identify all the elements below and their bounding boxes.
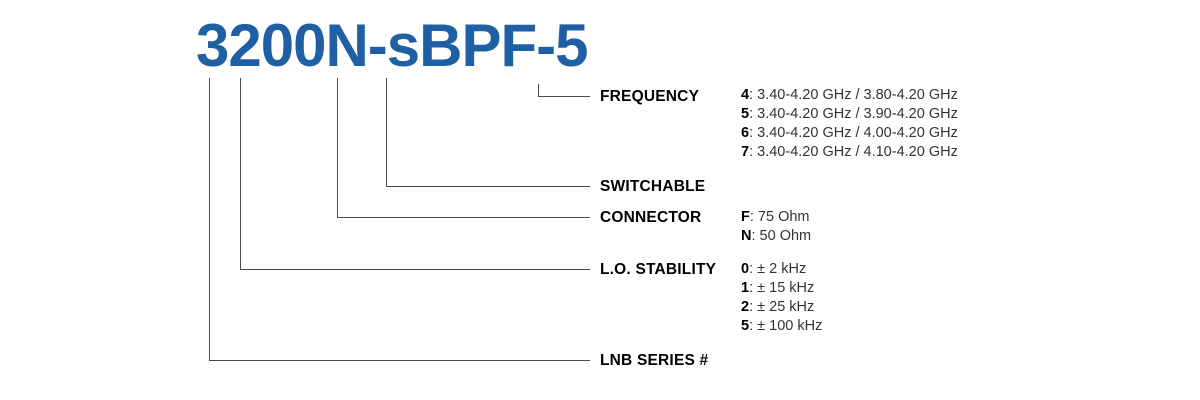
option-item: 2: ± 25 kHz bbox=[741, 298, 822, 317]
option-separator: : bbox=[751, 228, 759, 244]
row-label-connector: CONNECTOR bbox=[600, 209, 701, 227]
option-separator: : bbox=[749, 106, 757, 122]
leader-line-switchable-horizontal bbox=[386, 186, 590, 187]
option-code: 6 bbox=[741, 125, 749, 141]
option-item: 5: ± 100 kHz bbox=[741, 317, 822, 336]
option-code: 0 bbox=[741, 261, 749, 277]
row-label-lnb-series: LNB SERIES # bbox=[600, 352, 708, 370]
option-text: 3.40-4.20 GHz / 4.10-4.20 GHz bbox=[757, 144, 958, 160]
leader-line-lnb-series-vertical bbox=[209, 78, 210, 361]
option-separator: : bbox=[749, 125, 757, 141]
option-text: 50 Ohm bbox=[760, 228, 812, 244]
option-code: 5 bbox=[741, 318, 749, 334]
option-text: ± 2 kHz bbox=[757, 261, 806, 277]
option-item: N: 50 Ohm bbox=[741, 227, 811, 246]
row-label-lo-stability: L.O. STABILITY bbox=[600, 261, 716, 279]
option-code: 5 bbox=[741, 106, 749, 122]
option-text: ± 25 kHz bbox=[757, 299, 814, 315]
option-separator: : bbox=[749, 261, 757, 277]
leader-line-connector-vertical bbox=[337, 78, 338, 218]
option-text: 75 Ohm bbox=[758, 209, 810, 225]
option-code: 7 bbox=[741, 144, 749, 160]
option-item: 7: 3.40-4.20 GHz / 4.10-4.20 GHz bbox=[741, 143, 958, 162]
option-item: 4: 3.40-4.20 GHz / 3.80-4.20 GHz bbox=[741, 86, 958, 105]
option-item: 6: 3.40-4.20 GHz / 4.00-4.20 GHz bbox=[741, 124, 958, 143]
option-separator: : bbox=[749, 87, 757, 103]
option-separator: : bbox=[749, 318, 757, 334]
row-label-frequency: FREQUENCY bbox=[600, 88, 699, 106]
option-code: 2 bbox=[741, 299, 749, 315]
option-item: 0: ± 2 kHz bbox=[741, 260, 822, 279]
row-options-frequency: 4: 3.40-4.20 GHz / 3.80-4.20 GHz 5: 3.40… bbox=[741, 86, 958, 162]
leader-line-frequency-horizontal bbox=[538, 96, 590, 97]
option-item: 5: 3.40-4.20 GHz / 3.90-4.20 GHz bbox=[741, 105, 958, 124]
option-text: ± 100 kHz bbox=[757, 318, 822, 334]
row-label-switchable: SWITCHABLE bbox=[600, 178, 705, 196]
option-text: 3.40-4.20 GHz / 3.80-4.20 GHz bbox=[757, 87, 958, 103]
leader-line-lo-stability-horizontal bbox=[240, 269, 590, 270]
option-item: 1: ± 15 kHz bbox=[741, 279, 822, 298]
row-options-lo-stability: 0: ± 2 kHz 1: ± 15 kHz 2: ± 25 kHz 5: ± … bbox=[741, 260, 822, 336]
leader-line-switchable-vertical bbox=[386, 78, 387, 187]
option-text: 3.40-4.20 GHz / 4.00-4.20 GHz bbox=[757, 125, 958, 141]
option-item: F: 75 Ohm bbox=[741, 208, 811, 227]
leader-line-lo-stability-vertical bbox=[240, 78, 241, 270]
option-text: ± 15 kHz bbox=[757, 280, 814, 296]
option-separator: : bbox=[749, 280, 757, 296]
option-separator: : bbox=[750, 209, 758, 225]
part-number-title: 3200N-sBPF-5 bbox=[196, 16, 588, 76]
row-options-connector: F: 75 Ohm N: 50 Ohm bbox=[741, 208, 811, 246]
option-separator: : bbox=[749, 299, 757, 315]
option-code: N bbox=[741, 228, 751, 244]
option-code: 1 bbox=[741, 280, 749, 296]
leader-line-lnb-series-horizontal bbox=[209, 360, 590, 361]
part-number-breakdown-diagram: 3200N-sBPF-5 FREQUENCY SWITCHABLE CONNEC… bbox=[0, 0, 1200, 400]
option-separator: : bbox=[749, 144, 757, 160]
leader-line-connector-horizontal bbox=[337, 217, 590, 218]
option-text: 3.40-4.20 GHz / 3.90-4.20 GHz bbox=[757, 106, 958, 122]
option-code: F bbox=[741, 209, 750, 225]
option-code: 4 bbox=[741, 87, 749, 103]
